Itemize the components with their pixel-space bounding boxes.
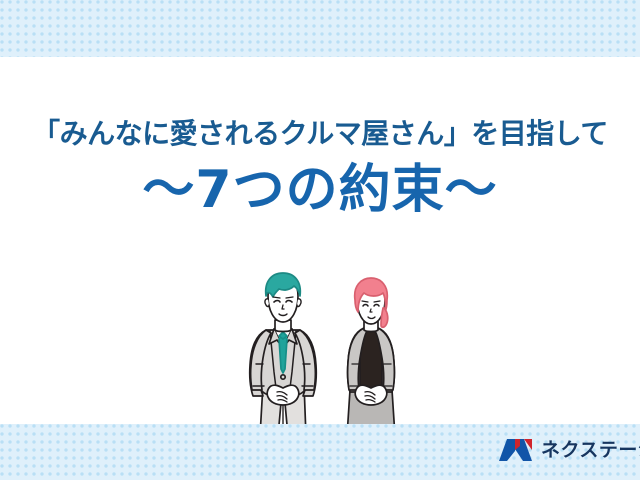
headline-secondary: 〜7つの約束〜 [0, 162, 640, 218]
female-staff-figure [347, 278, 395, 436]
staff-illustration-svg [244, 272, 420, 436]
top-dotted-band [0, 0, 640, 57]
male-staff-figure [250, 273, 317, 436]
nexstage-logo-text: ネクステージ [541, 441, 640, 460]
two-staff-bowing-illustration [244, 272, 420, 436]
promo-banner: 「みんなに愛されるクルマ屋さん」を目指して 〜7つの約束〜 [0, 0, 640, 480]
headline-primary: 「みんなに愛されるクルマ屋さん」を目指して [0, 118, 640, 150]
nexstage-n-mark-icon [498, 437, 534, 463]
headline-block: 「みんなに愛されるクルマ屋さん」を目指して 〜7つの約束〜 [0, 118, 640, 218]
nexstage-logo: ネクステージ [498, 437, 640, 463]
